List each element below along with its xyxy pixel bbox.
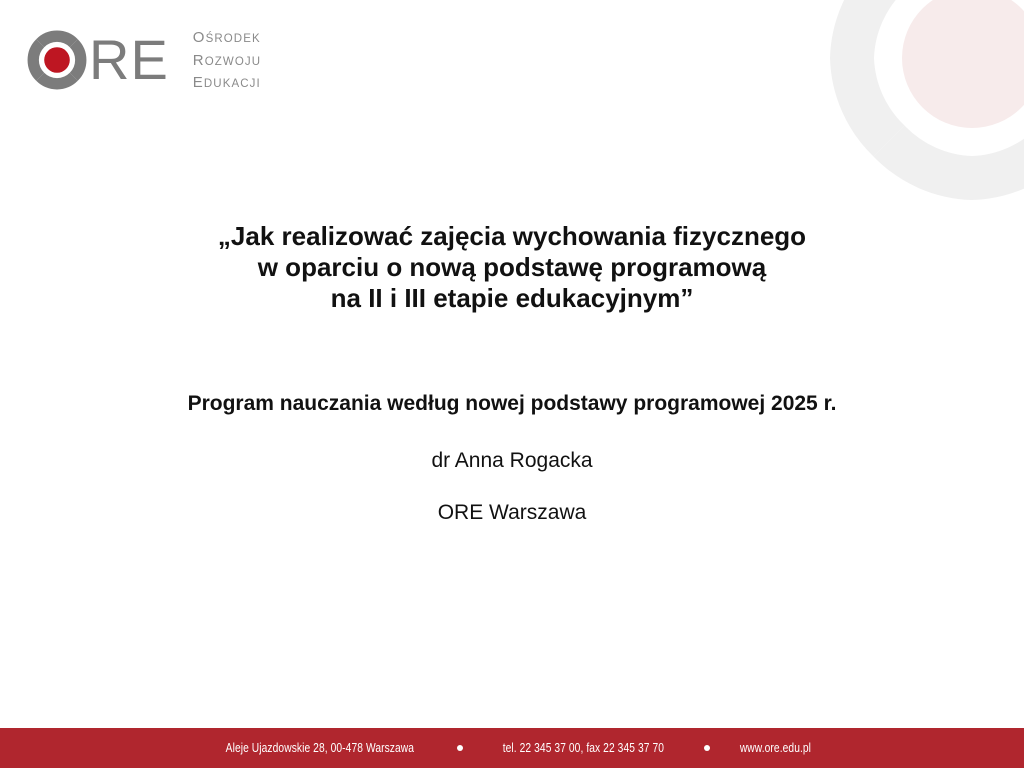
footer-bullet-separator-2 (704, 745, 710, 751)
footer-content: Aleje Ujazdowskie 28, 00-478 Warszawa te… (0, 728, 1024, 768)
slide-author-block: dr Anna Rogacka ORE Warszawa (0, 448, 1024, 526)
ore-tagline-line-1: OŚRODEK (193, 27, 261, 50)
footer-address: Aleje Ujazdowskie 28, 00-478 Warszawa (226, 741, 414, 755)
ore-ring-watermark-icon (802, 0, 1024, 228)
footer-website[interactable]: www.ore.edu.pl (740, 741, 811, 755)
tagline-cap-2: R (193, 52, 205, 69)
slide-title-line-3: na II i III etapie edukacyjnym” (0, 283, 1024, 314)
tagline-rest-2: OZWOJU (205, 56, 261, 68)
tagline-cap-3: E (193, 74, 204, 91)
slide-title-line-2: w oparciu o nową podstawę programową (0, 252, 1024, 283)
tagline-cap-1: O (193, 29, 206, 46)
ore-wordmark: RE (89, 28, 169, 92)
presentation-slide: RE OŚRODEK ROZWOJU EDUKACJI „Jak realizo… (0, 0, 1024, 768)
footer-contact: tel. 22 345 37 00, fax 22 345 37 70 (503, 741, 664, 755)
slide-title-line-1: „Jak realizować zajęcia wychowania fizyc… (0, 221, 1024, 252)
ore-tagline: OŚRODEK ROZWOJU EDUKACJI (193, 25, 261, 95)
author-spacer (0, 474, 1024, 500)
ore-ring-mark-icon (25, 28, 89, 92)
slide-title: „Jak realizować zajęcia wychowania fizyc… (0, 221, 1024, 314)
footer-bullet-separator-1 (457, 745, 463, 751)
slide-subtitle-line-1: Program nauczania według nowej podstawy … (0, 391, 1024, 417)
tagline-rest-1: ŚRODEK (206, 33, 261, 45)
ore-tagline-line-2: ROZWOJU (193, 50, 261, 73)
tagline-rest-3: DUKACJI (204, 78, 261, 90)
slide-subtitle: Program nauczania według nowej podstawy … (0, 391, 1024, 417)
author-name: dr Anna Rogacka (0, 448, 1024, 474)
author-affiliation: ORE Warszawa (0, 500, 1024, 526)
footer-bar: Aleje Ujazdowskie 28, 00-478 Warszawa te… (0, 728, 1024, 768)
ore-logo: RE OŚRODEK ROZWOJU EDUKACJI (25, 26, 261, 94)
ore-tagline-line-3: EDUKACJI (193, 72, 261, 95)
